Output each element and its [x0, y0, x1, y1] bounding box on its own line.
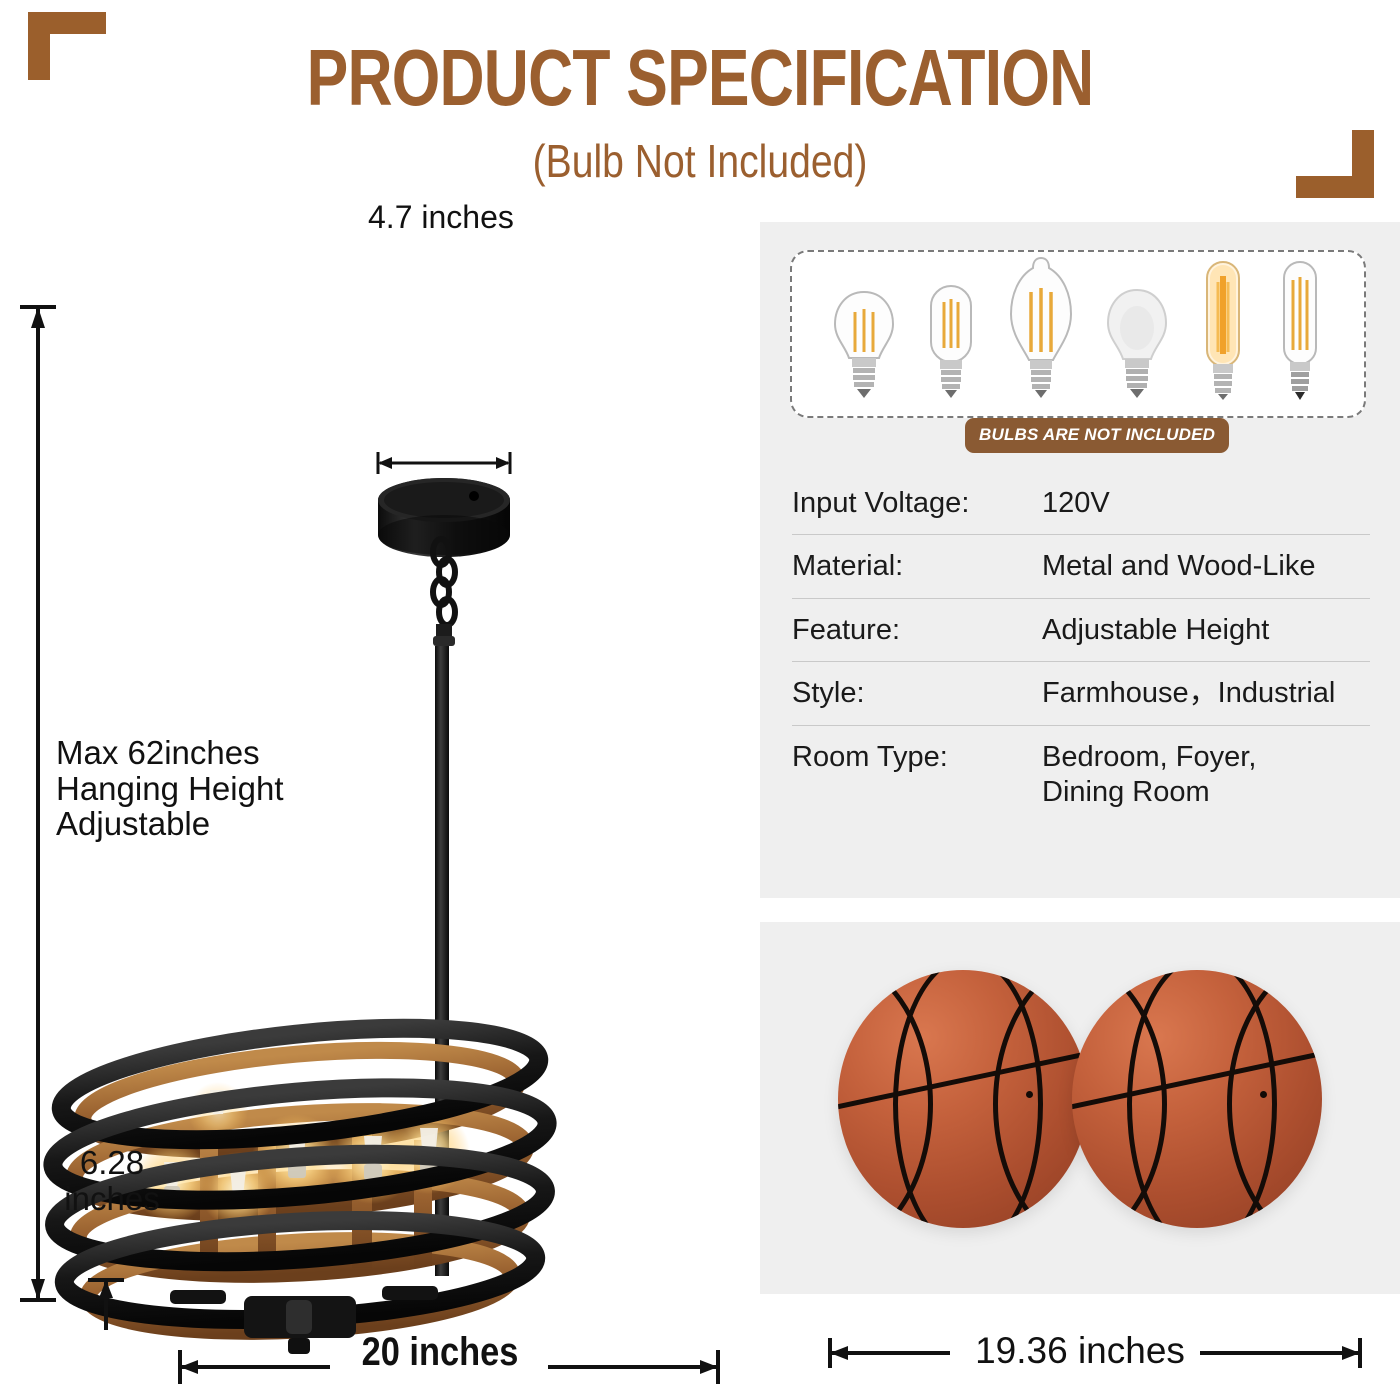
a19-bulb-icon [831, 276, 897, 402]
spec-value: Bedroom, Foyer, Dining Room [1042, 740, 1256, 811]
dimension-canopy-width [378, 452, 510, 474]
a60-frosted-bulb-icon [1103, 276, 1171, 402]
dimension-label-fixture-height: 6.28 inches [62, 1145, 162, 1216]
t30-tubular-bulb-icon [1197, 256, 1249, 402]
table-row: Feature: Adjustable Height [792, 599, 1370, 662]
table-row: Style: Farmhouse，Industrial [792, 662, 1370, 725]
basketball [1072, 970, 1322, 1228]
bracket-arm-vertical [1352, 130, 1374, 198]
bulb-type-list [792, 252, 1364, 416]
table-row: Input Voltage: 120V [792, 472, 1370, 535]
page-title: PRODUCT SPECIFICATION [154, 38, 1246, 118]
specification-panel: BULBS ARE NOT INCLUDED Input Voltage: 12… [760, 222, 1400, 898]
bulb-types-card [790, 250, 1366, 418]
size-comparison-panel [760, 922, 1400, 1294]
specification-table: Input Voltage: 120V Material: Metal and … [792, 472, 1370, 823]
t45-tube-bulb-icon [923, 268, 979, 402]
dimension-label-canopy-width: 4.7 inches [368, 200, 514, 235]
st64-edison-bulb-icon [1005, 252, 1077, 402]
dimension-label-basketball-width: 19.36 inches [945, 1330, 1215, 1372]
ceiling-canopy [378, 478, 510, 557]
corner-bracket-bottom-right [1296, 130, 1374, 198]
spec-value: Farmhouse，Industrial [1042, 676, 1335, 711]
spec-key: Style: [792, 676, 1042, 711]
bulbs-not-included-badge: BULBS ARE NOT INCLUDED [965, 418, 1229, 453]
table-row: Material: Metal and Wood-Like [792, 535, 1370, 598]
spec-value: Adjustable Height [1042, 613, 1269, 648]
dimension-label-hanging-height: Max 62inches Hanging Height Adjustable [56, 735, 284, 842]
spec-key: Feature: [792, 613, 1042, 648]
t45-slim-tube-bulb-icon [1275, 256, 1325, 402]
basketball [838, 970, 1088, 1228]
spec-key: Input Voltage: [792, 486, 1042, 521]
spec-value: Metal and Wood-Like [1042, 549, 1316, 584]
corner-bracket-top-left [28, 12, 106, 80]
spec-key: Room Type: [792, 740, 1042, 775]
dimension-label-fixture-width: 20 inches [345, 1330, 534, 1375]
page-subtitle: (Bulb Not Included) [105, 138, 1295, 184]
spec-key: Material: [792, 549, 1042, 584]
spec-value: 120V [1042, 486, 1110, 521]
table-row: Room Type: Bedroom, Foyer, Dining Room [792, 726, 1370, 824]
bracket-arm-vertical [28, 12, 50, 80]
